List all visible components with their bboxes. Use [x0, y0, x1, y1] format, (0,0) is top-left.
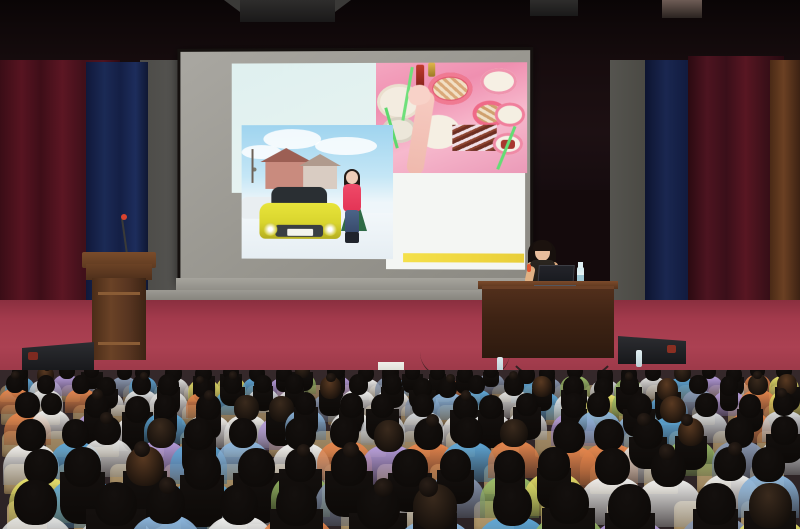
red-top	[343, 184, 361, 212]
audience-head	[516, 393, 538, 416]
ceiling-fixture-icon	[530, 0, 578, 16]
audience-head	[695, 393, 718, 418]
audience-member	[394, 484, 476, 529]
handheld-microphone-icon	[527, 264, 531, 272]
projection-screen	[177, 47, 533, 287]
sauce-bottle-icon	[428, 63, 435, 77]
audience-head	[14, 480, 56, 525]
audience-hair-bun	[92, 389, 103, 400]
audience-head	[739, 394, 762, 418]
microphone-indicator-icon	[121, 214, 127, 220]
audience-head	[184, 418, 214, 450]
audience-hair-bun	[374, 478, 393, 497]
audience	[0, 370, 800, 529]
audience-hair-bun	[637, 413, 650, 426]
audience-hair-bun	[343, 442, 359, 458]
audience-hair-bun	[446, 374, 455, 383]
audience-head	[752, 447, 785, 482]
food-bowl	[495, 103, 525, 127]
photo-winter-car	[242, 125, 393, 259]
projected-slide	[232, 62, 522, 263]
slide-accent-band	[403, 253, 524, 263]
audience-head	[254, 375, 272, 394]
podium-trim	[98, 342, 140, 345]
headlight-icon	[323, 223, 337, 236]
headlight-icon	[263, 223, 277, 236]
jeans	[345, 210, 359, 234]
audience-head	[749, 483, 791, 528]
audience-hair-bun	[11, 371, 19, 379]
audience-head	[494, 450, 525, 483]
audience-head	[340, 393, 363, 417]
podium	[86, 252, 152, 360]
food-bowl	[481, 68, 517, 94]
audience-head	[595, 448, 630, 485]
car-body	[259, 203, 341, 239]
audience-head	[538, 447, 570, 481]
audience-member	[0, 480, 75, 529]
audience-hair-bun	[426, 414, 439, 427]
audience-head	[41, 393, 62, 416]
audience-head	[72, 375, 90, 394]
audience-head	[349, 374, 368, 394]
audience-hair-bun	[625, 372, 633, 380]
ceiling-light-icon	[662, 0, 702, 18]
grilled-sausages	[452, 125, 496, 151]
audience-head	[285, 374, 304, 394]
audience-hair-bun	[196, 376, 204, 384]
house	[303, 165, 337, 189]
audience-head	[587, 392, 610, 417]
audience-head	[689, 375, 707, 394]
audience-head	[493, 484, 533, 526]
audience-head	[220, 484, 258, 525]
audience-hair-bun	[659, 444, 675, 460]
auditorium-photo	[0, 0, 800, 529]
presenter-hair-front	[533, 240, 552, 251]
audience-head	[454, 417, 484, 448]
audience-head	[440, 449, 472, 482]
audience-hair-bun	[326, 373, 335, 382]
audience-head	[158, 374, 179, 396]
audience-member	[129, 483, 202, 529]
audience-head	[295, 392, 317, 415]
water-bottle-audience	[636, 350, 642, 367]
audience-member	[589, 484, 670, 529]
audience-member	[731, 483, 800, 529]
head	[346, 171, 358, 184]
audience-head	[371, 394, 394, 419]
photo-food-spread	[376, 62, 527, 173]
audience-head	[479, 395, 502, 420]
audience-hair-bun	[419, 477, 438, 496]
ceiling-speaker-icon	[240, 0, 335, 22]
boots	[345, 232, 359, 243]
audience-head	[500, 419, 527, 448]
audience-head	[468, 375, 486, 394]
audience-head	[16, 419, 46, 451]
audience-hair-bun	[681, 414, 693, 426]
food-bowl	[428, 73, 472, 105]
audience-member	[258, 482, 336, 529]
woman-beside-car	[341, 171, 363, 243]
cloud	[315, 137, 377, 155]
podium-body	[92, 278, 146, 360]
audience-head	[696, 483, 736, 525]
audience-head	[771, 416, 798, 445]
audience-hair-bun	[229, 371, 237, 379]
audience-hair-bun	[100, 412, 112, 424]
podium-trim	[98, 292, 140, 295]
audience-head	[229, 418, 257, 448]
license-plate	[287, 229, 313, 236]
bare-tree	[246, 149, 264, 183]
audience-hair-bun	[509, 371, 518, 380]
yellow-mini-cooper	[259, 187, 341, 243]
audience-head	[154, 395, 177, 419]
audience-hair-bun	[134, 441, 151, 458]
audience-head	[608, 484, 651, 529]
audience-head	[549, 482, 589, 524]
audience-head	[276, 482, 317, 526]
audience-head	[383, 374, 402, 394]
